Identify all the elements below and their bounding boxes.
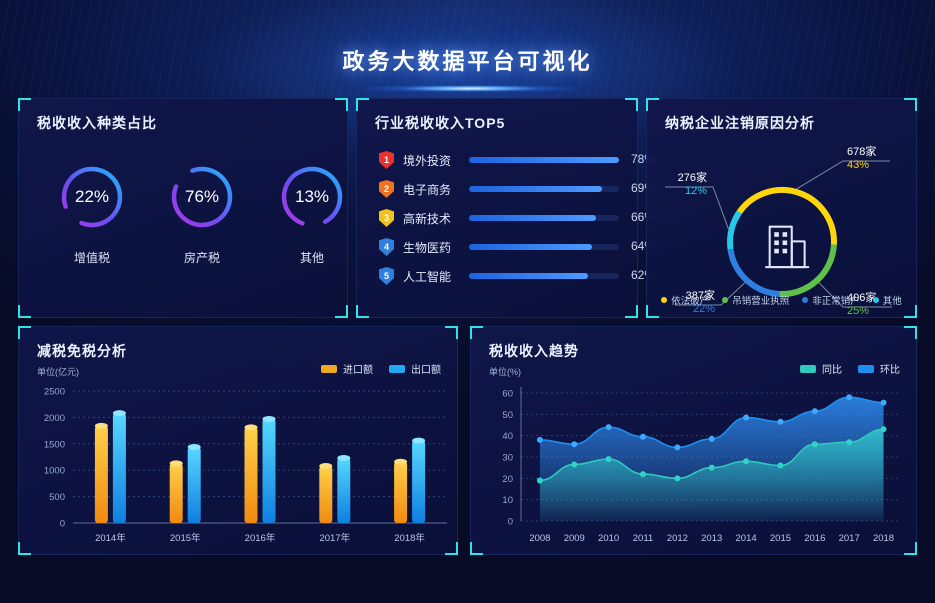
bar-cap [170,460,183,466]
data-point[interactable] [881,400,887,406]
corner-bracket-bl [356,305,369,318]
dashboard-root: 政务大数据平台可视化 税收收入种类占比 22%增值税76%房产税13%其他 行业… [0,0,935,603]
gauge-1: 22% [56,161,128,233]
bar-cap [412,438,425,444]
ring-callout: 276家12% [678,169,707,197]
header-light-streak [330,86,610,91]
ring-callout-count: 276家 [678,169,707,185]
gauge-value-2: 76% [166,161,238,233]
x-tick-label: 2018年 [394,532,425,544]
legend-label: 吊销营业执照 [732,293,789,307]
legend-dot-icon [661,297,667,303]
data-point[interactable] [674,475,680,481]
y-tick-label: 1000 [44,466,65,477]
legend-item[interactable]: 吊销营业执照 [722,293,789,307]
bar-chart: 050010001500200025002014年2015年2016年2017年… [19,327,457,554]
legend-label: 非正常销户 [812,293,860,307]
data-point[interactable] [846,439,852,445]
legend-dot-icon [802,297,808,303]
bar-cap [337,455,350,461]
y-tick-label: 0 [60,519,65,530]
bar-cap [263,416,276,422]
y-tick-label: 50 [502,410,513,421]
rank-name: 人工智能 [403,268,451,285]
ring-callout-percent: 12% [678,185,707,197]
data-point[interactable] [812,408,818,414]
data-point[interactable] [674,444,680,450]
y-tick-label: 500 [49,492,65,503]
building-icon [766,227,808,267]
x-tick-label: 2018 [873,533,894,544]
bar[interactable] [245,427,258,523]
rank-row[interactable]: 1境外投资78% [379,151,629,170]
rank-badge-icon: 4 [379,238,394,256]
x-tick-label: 2008 [529,533,550,544]
x-tick-label: 2016 [804,533,825,544]
ring-segment[interactable] [730,212,740,249]
ring-callout: 678家43% [847,143,876,171]
y-tick-label: 30 [502,453,513,464]
bar[interactable] [319,466,332,523]
y-tick-label: 40 [502,431,513,442]
bar-cap [245,424,258,430]
x-tick-label: 2015年 [170,532,201,544]
ring-callout-count: 678家 [847,143,876,159]
bar[interactable] [113,413,126,523]
rank-bar-fill [469,157,619,163]
rank-bar-fill [469,215,596,221]
rank-bar-fill [469,186,602,192]
bar[interactable] [170,463,183,523]
bar[interactable] [263,419,276,523]
rank-row[interactable]: 2电子商务69% [379,180,629,199]
rank-name: 电子商务 [403,181,451,198]
y-tick-label: 0 [508,517,513,528]
ring-chart: 678家43%406家25%387家22%276家12% [647,99,916,317]
data-point[interactable] [881,426,887,432]
corner-bracket-tl [356,98,369,111]
y-tick-label: 10 [502,495,513,506]
rank-badge-icon: 3 [379,209,394,227]
gauge-2: 76% [166,161,238,233]
rank-bar-track [469,186,619,192]
panel-tax-share: 税收收入种类占比 22%增值税76%房产税13%其他 [18,98,348,318]
rank-bar-track [469,215,619,221]
data-point[interactable] [812,441,818,447]
data-point[interactable] [743,415,749,421]
panel-tax-relief: 减税免税分析 单位(亿元) 进口额出口额 0500100015002000250… [18,326,458,555]
page-title: 政务大数据平台可视化 [0,44,935,76]
data-point[interactable] [777,419,783,425]
ring-segment[interactable] [779,245,833,294]
legend-item[interactable]: 非正常销户 [802,293,860,307]
legend-label: 依法破产 [671,293,709,307]
corner-bracket-tr [335,98,348,111]
bar[interactable] [337,458,350,523]
legend-dot-icon [873,297,879,303]
ring-segment[interactable] [731,249,780,294]
rank-bar-track [469,273,619,279]
bar-cap [113,410,126,416]
corner-bracket-br [625,305,638,318]
x-tick-label: 2012 [667,533,688,544]
corner-bracket-bl [18,305,31,318]
data-point[interactable] [709,436,715,442]
rank-name: 境外投资 [403,152,451,169]
bar-cap [188,444,201,450]
data-point[interactable] [606,456,612,462]
gauge-label-3: 其他 [257,249,367,266]
panel-cancel-reason: 纳税企业注销原因分析 678家43%406家25%387家2 [646,98,917,318]
gauge-value-3: 13% [276,161,348,233]
y-tick-label: 1500 [44,439,65,450]
gauge-label-2: 房产税 [147,249,257,266]
bar[interactable] [188,447,201,523]
gauge-label-1: 增值税 [37,249,147,266]
x-tick-label: 2013 [701,533,722,544]
gauge-3: 13% [276,161,348,233]
corner-bracket-tr [625,98,638,111]
data-point[interactable] [571,441,577,447]
x-tick-label: 2014年 [95,532,126,544]
rank-name: 生物医药 [403,239,451,256]
panel-title-tax-share: 税收收入种类占比 [37,113,157,133]
rank-badge-icon: 1 [379,151,394,169]
ring-callout-percent: 43% [847,159,876,171]
legend-item[interactable]: 依法破产 [661,293,709,307]
rank-bar-fill [469,244,592,250]
x-tick-label: 2017 [839,533,860,544]
data-point[interactable] [709,465,715,471]
x-tick-label: 2015 [770,533,791,544]
data-point[interactable] [777,463,783,469]
data-point[interactable] [846,394,852,400]
data-point[interactable] [537,477,543,483]
data-point[interactable] [640,471,646,477]
bar[interactable] [95,426,108,523]
bar-cap [394,459,407,465]
y-tick-label: 2000 [44,413,65,424]
bar[interactable] [394,462,407,523]
rank-bar-track [469,157,619,163]
area-chart-svg: 0102030405060200820092010201120122013201… [471,327,918,556]
rank-bar-fill [469,273,588,279]
x-tick-label: 2009 [564,533,585,544]
x-tick-label: 2010 [598,533,619,544]
ring-legend: 依法破产吊销营业执照非正常销户其他 [647,293,916,307]
panel-industry-top5: 行业税收收入TOP5 1境外投资78%2电子商务69%3高新技术66%4生物医药… [356,98,638,318]
x-tick-label: 2016年 [245,532,276,544]
rank-badge-icon: 5 [379,267,394,285]
gauge-value-1: 22% [56,161,128,233]
legend-label: 其他 [883,293,902,307]
y-tick-label: 2500 [44,387,65,398]
rank-row[interactable]: 3高新技术66% [379,209,629,228]
legend-dot-icon [722,297,728,303]
corner-bracket-br [335,305,348,318]
bar-cap [319,463,332,469]
rank-badge-icon: 2 [379,180,394,198]
rank-name: 高新技术 [403,210,451,227]
rank-row[interactable]: 4生物医药64% [379,238,629,257]
x-tick-label: 2014 [736,533,757,544]
y-tick-label: 60 [502,389,513,400]
bar-cap [95,423,108,429]
ring-chart-svg [647,99,918,319]
data-point[interactable] [537,437,543,443]
legend-item[interactable]: 其他 [873,293,902,307]
bar[interactable] [412,441,425,523]
x-tick-label: 2017年 [319,532,350,544]
rank-row[interactable]: 5人工智能62% [379,267,629,286]
y-tick-label: 20 [502,474,513,485]
data-point[interactable] [571,461,577,467]
panel-tax-trend: 税收收入趋势 单位(%) 同比环比 0102030405060200820092… [470,326,917,555]
x-tick-label: 2011 [633,533,653,544]
rank-bar-track [469,244,619,250]
panel-title-industry-top5: 行业税收收入TOP5 [375,113,505,133]
corner-bracket-tl [18,98,31,111]
bar-chart-svg: 050010001500200025002014年2015年2016年2017年… [19,327,459,556]
area-chart: 0102030405060200820092010201120122013201… [471,327,916,554]
data-point[interactable] [606,424,612,430]
data-point[interactable] [640,434,646,440]
data-point[interactable] [743,458,749,464]
